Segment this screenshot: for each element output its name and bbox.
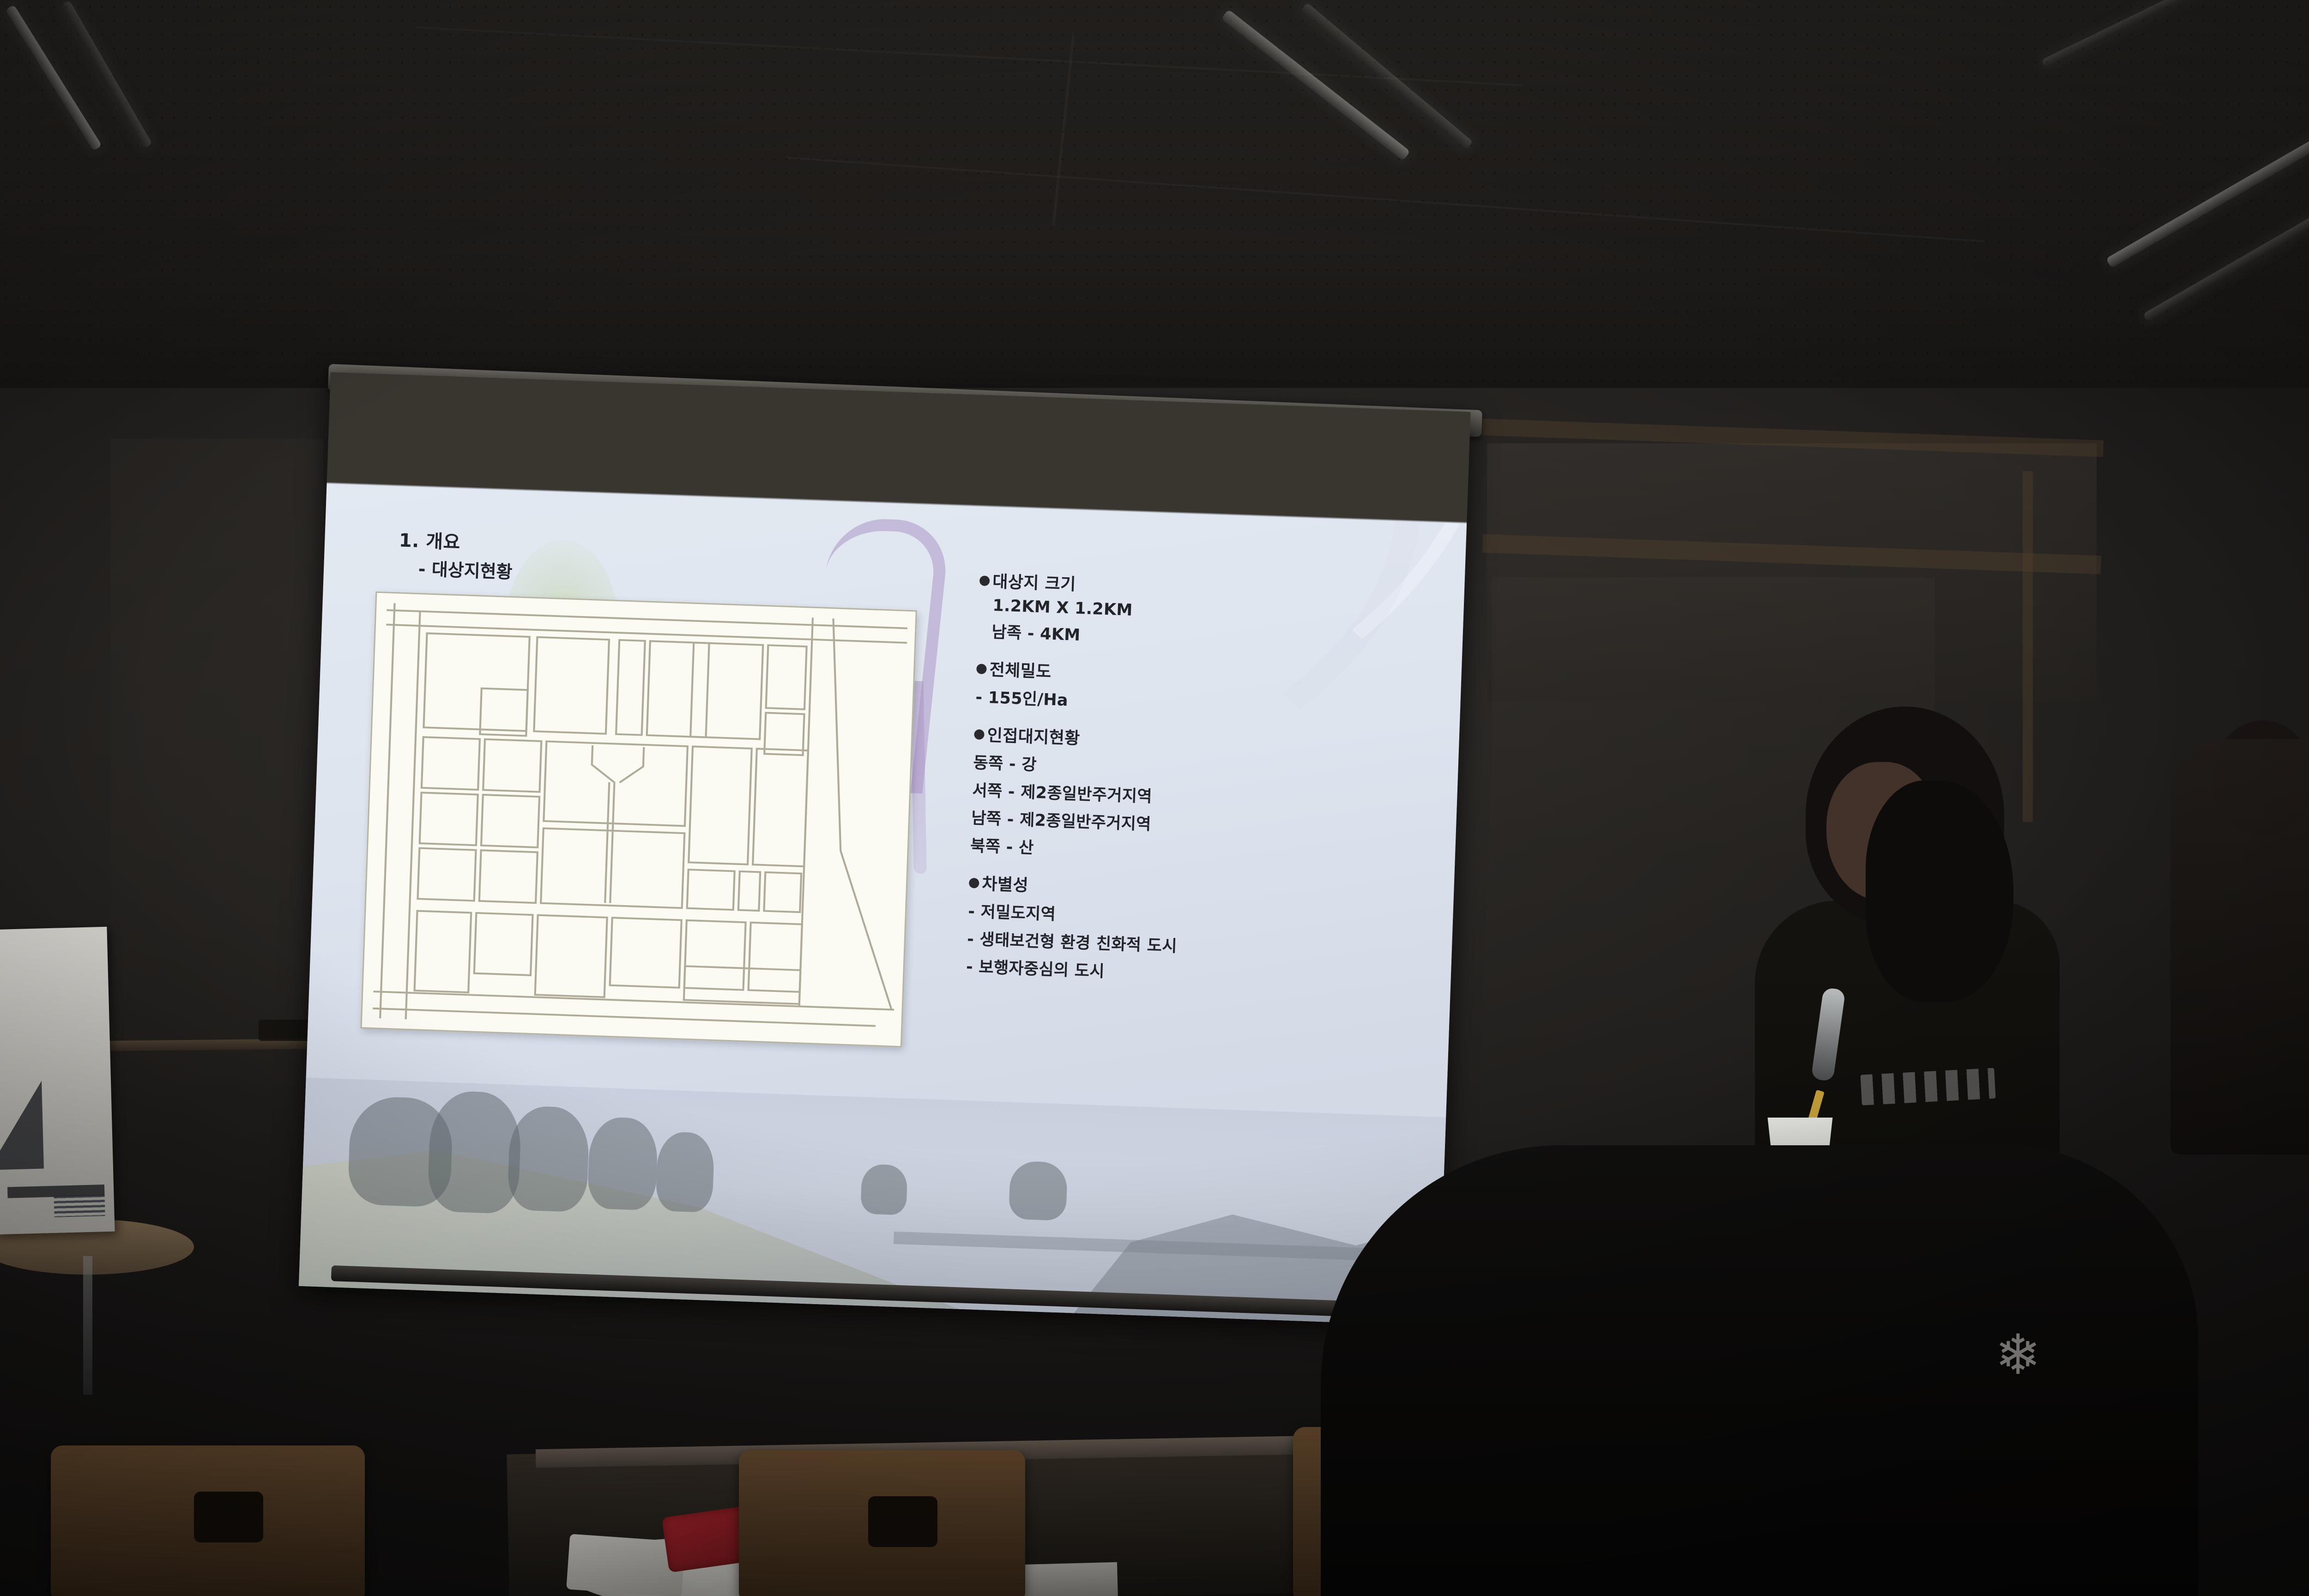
bullet-group: 차별성 - 저밀도지역 - 생태보건형 환경 친화적 도시 - 보행자중심의 도… [966,870,1448,994]
bullet-dot-icon [969,878,979,889]
photo-tree [1009,1161,1068,1221]
bullet-group: 전체밀도 - 155인/Ha [975,656,1456,724]
background-person [2170,739,2309,1155]
ceiling-tile-texture [0,0,2309,388]
screen-surface: 1. 개요 - 대상지현황 [299,372,1471,1326]
bullet-header-text: 인접대지현황 [987,726,1080,748]
poster-text-block [54,1195,105,1217]
chair-handle-cutout [194,1492,263,1542]
bullet-header-text: 차별성 [982,875,1029,895]
slide-title-number: 1. 개요 [399,528,514,557]
ceiling [0,0,2309,388]
photo-tree [655,1131,715,1213]
presentation-slide: 1. 개요 - 대상지현황 [299,484,1467,1326]
site-plan-map [360,592,917,1048]
slide-title-block: 1. 개요 - 대상지현황 [398,528,514,584]
photo-tree [860,1164,908,1215]
photo-tree [587,1117,659,1211]
bullet-header-text: 대상지 크기 [992,572,1076,594]
bullet-header-text: 전체밀도 [989,660,1052,682]
presenter-hair [1866,780,2013,1002]
bullet-dot-icon [974,729,985,740]
wall-panel [111,439,323,1085]
photo-tree [507,1106,591,1213]
audience-member [1321,1145,2198,1596]
chair-handle-cutout [868,1496,937,1547]
bullet-dot-icon [979,575,990,586]
projector-screen: 1. 개요 - 대상지현황 [299,372,1471,1326]
bullet-group: 인접대지현황 동쪽 - 강 서쪽 - 제2종일반주거지역 남쪽 - 제2종일반주… [970,721,1454,873]
slide-title-sub: - 대상지현황 [418,557,513,585]
slide-bullets: 대상지 크기 1.2KM X 1.2KM 남족 - 4KM 전체밀도 - 155… [965,568,1459,1008]
poster-graphic [0,1081,44,1170]
stool-leg [83,1256,92,1395]
photo-tree [427,1090,522,1215]
presentation-board [0,927,115,1235]
snowflake-icon: ❄ [1990,1330,2046,1385]
lecture-room-photo: 1. 개요 - 대상지현황 [0,0,2309,1596]
bullet-dot-icon [976,664,987,674]
